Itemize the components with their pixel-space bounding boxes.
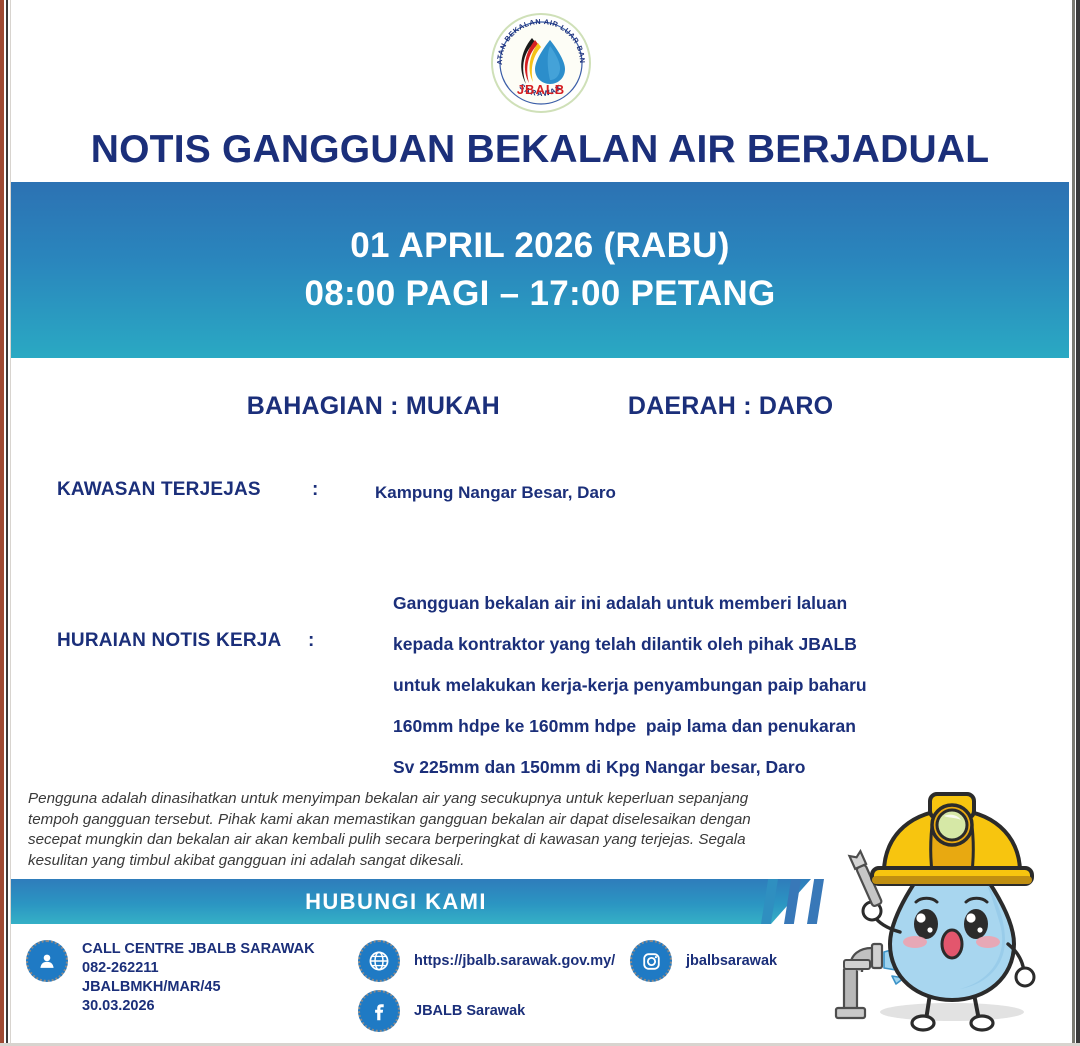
website-text: https://jbalb.sarawak.gov.my/ <box>414 940 615 982</box>
region-row: BAHAGIAN : MUKAH DAERAH : DARO <box>0 392 1080 421</box>
work-description-colon: : <box>308 630 314 652</box>
call-centre-name: CALL CENTRE JBALB SARAWAK <box>82 940 315 959</box>
affected-area-value: Kampung Nangar Besar, Daro <box>375 483 616 503</box>
contact-call-centre[interactable]: CALL CENTRE JBALB SARAWAK 082-262211 JBA… <box>26 940 315 1016</box>
work-description-line: untuk melakukan kerja-kerja penyambungan… <box>393 665 993 706</box>
call-centre-text: CALL CENTRE JBALB SARAWAK 082-262211 JBA… <box>82 940 315 1016</box>
facebook-icon <box>358 990 400 1032</box>
person-icon <box>26 940 68 982</box>
district-label: DAERAH : DARO <box>628 392 833 421</box>
work-description-value: Gangguan bekalan air ini adalah untuk me… <box>393 583 993 788</box>
instagram-text: jbalbsarawak <box>686 940 777 982</box>
globe-icon <box>358 940 400 982</box>
affected-area-label: KAWASAN TERJEJAS <box>57 479 261 501</box>
notice-reference: JBALBMKH/MAR/45 <box>82 978 315 997</box>
contact-banner: HUBUNGI KAMI <box>11 879 811 924</box>
contact-facebook[interactable]: JBALB Sarawak <box>358 990 525 1032</box>
facebook-text: JBALB Sarawak <box>414 990 525 1032</box>
website-url: https://jbalb.sarawak.gov.my/ <box>414 940 615 982</box>
advisory-text: Pengguna adalah dinasihatkan untuk menyi… <box>28 789 773 871</box>
instagram-handle: jbalbsarawak <box>686 940 777 982</box>
division-label: BAHAGIAN : MUKAH <box>247 392 500 421</box>
notice-date: 30.03.2026 <box>82 997 315 1016</box>
call-centre-phone: 082-262211 <box>82 959 315 978</box>
jbalb-logo: JABATAN BEKALAN AIR LUAR BANDAR SARAWAK … <box>490 12 592 114</box>
banner-date: 01 APRIL 2026 (RABU) <box>350 226 729 266</box>
water-disruption-notice-poster: JABATAN BEKALAN AIR LUAR BANDAR SARAWAK … <box>0 0 1080 1046</box>
facebook-handle: JBALB Sarawak <box>414 990 525 1032</box>
contact-instagram[interactable]: jbalbsarawak <box>630 940 777 982</box>
banner-time: 08:00 PAGI – 17:00 PETANG <box>304 274 775 314</box>
instagram-icon <box>630 940 672 982</box>
contact-banner-title: HUBUNGI KAMI <box>305 889 487 915</box>
contact-website[interactable]: https://jbalb.sarawak.gov.my/ <box>358 940 615 982</box>
work-description-line: 160mm hdpe ke 160mm hdpe paip lama dan p… <box>393 706 993 747</box>
water-droplet-worker-mascot <box>822 772 1072 1038</box>
affected-area-colon: : <box>312 479 318 501</box>
svg-text:JBALB: JBALB <box>517 82 565 97</box>
work-description-line: Gangguan bekalan air ini adalah untuk me… <box>393 583 993 624</box>
schedule-banner: 01 APRIL 2026 (RABU) 08:00 PAGI – 17:00 … <box>11 182 1069 358</box>
work-description-label: HURAIAN NOTIS KERJA <box>57 630 281 652</box>
page-title: NOTIS GANGGUAN BEKALAN AIR BERJADUAL <box>0 128 1080 172</box>
work-description-line: kepada kontraktor yang telah dilantik ol… <box>393 624 993 665</box>
